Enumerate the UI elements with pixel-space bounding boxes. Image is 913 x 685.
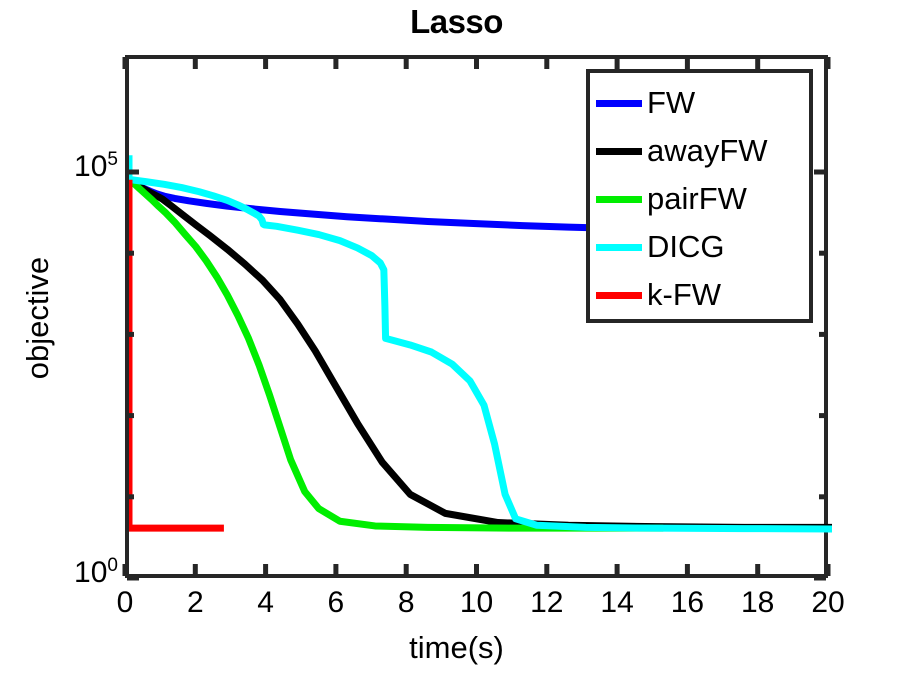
legend-swatch-pairfw [596, 196, 642, 203]
x-axis-label: time(s) [0, 630, 913, 666]
legend-swatch-dicg [596, 244, 642, 251]
legend-label: pairFW [647, 182, 747, 216]
x-tick-label: 6 [301, 586, 371, 620]
x-tick-label: 12 [512, 586, 582, 620]
x-tick-label: 8 [371, 586, 441, 620]
legend-entry-awayfw[interactable]: awayFW [590, 127, 809, 175]
legend-swatch-awayfw [596, 148, 642, 155]
legend-entry-dicg[interactable]: DICG [590, 223, 809, 271]
legend-entry-k-fw[interactable]: k-FW [590, 271, 809, 319]
legend-entry-fw[interactable]: FW [590, 79, 809, 127]
legend-swatch-k-fw [596, 292, 642, 299]
x-tick-label: 16 [652, 586, 722, 620]
x-tick-label: 4 [231, 586, 301, 620]
x-tick-label: 20 [793, 586, 863, 620]
legend-swatch-fw [596, 100, 642, 107]
y-tick-label: 105 [0, 150, 118, 184]
x-tick-label: 2 [160, 586, 230, 620]
chart-title: Lasso [0, 2, 913, 42]
y-axis-label: objective [20, 188, 56, 448]
legend-box: FWawayFWpairFWDICGk-FW [586, 69, 813, 323]
legend-label: DICG [647, 230, 725, 264]
x-tick-label: 14 [582, 586, 652, 620]
x-tick-label: 10 [442, 586, 512, 620]
figure-lasso-convergence-chart: Lasso 02468101214161820 105100 time(s) o… [0, 0, 913, 685]
y-tick-label: 100 [0, 556, 118, 590]
legend-label: k-FW [647, 278, 721, 312]
legend-label: awayFW [647, 134, 768, 168]
legend-entry-pairfw[interactable]: pairFW [590, 175, 809, 223]
series-line-fw [129, 180, 597, 228]
y-axis-tick-labels: 105100 [0, 0, 118, 685]
x-tick-label: 18 [723, 586, 793, 620]
legend-label: FW [647, 86, 695, 120]
